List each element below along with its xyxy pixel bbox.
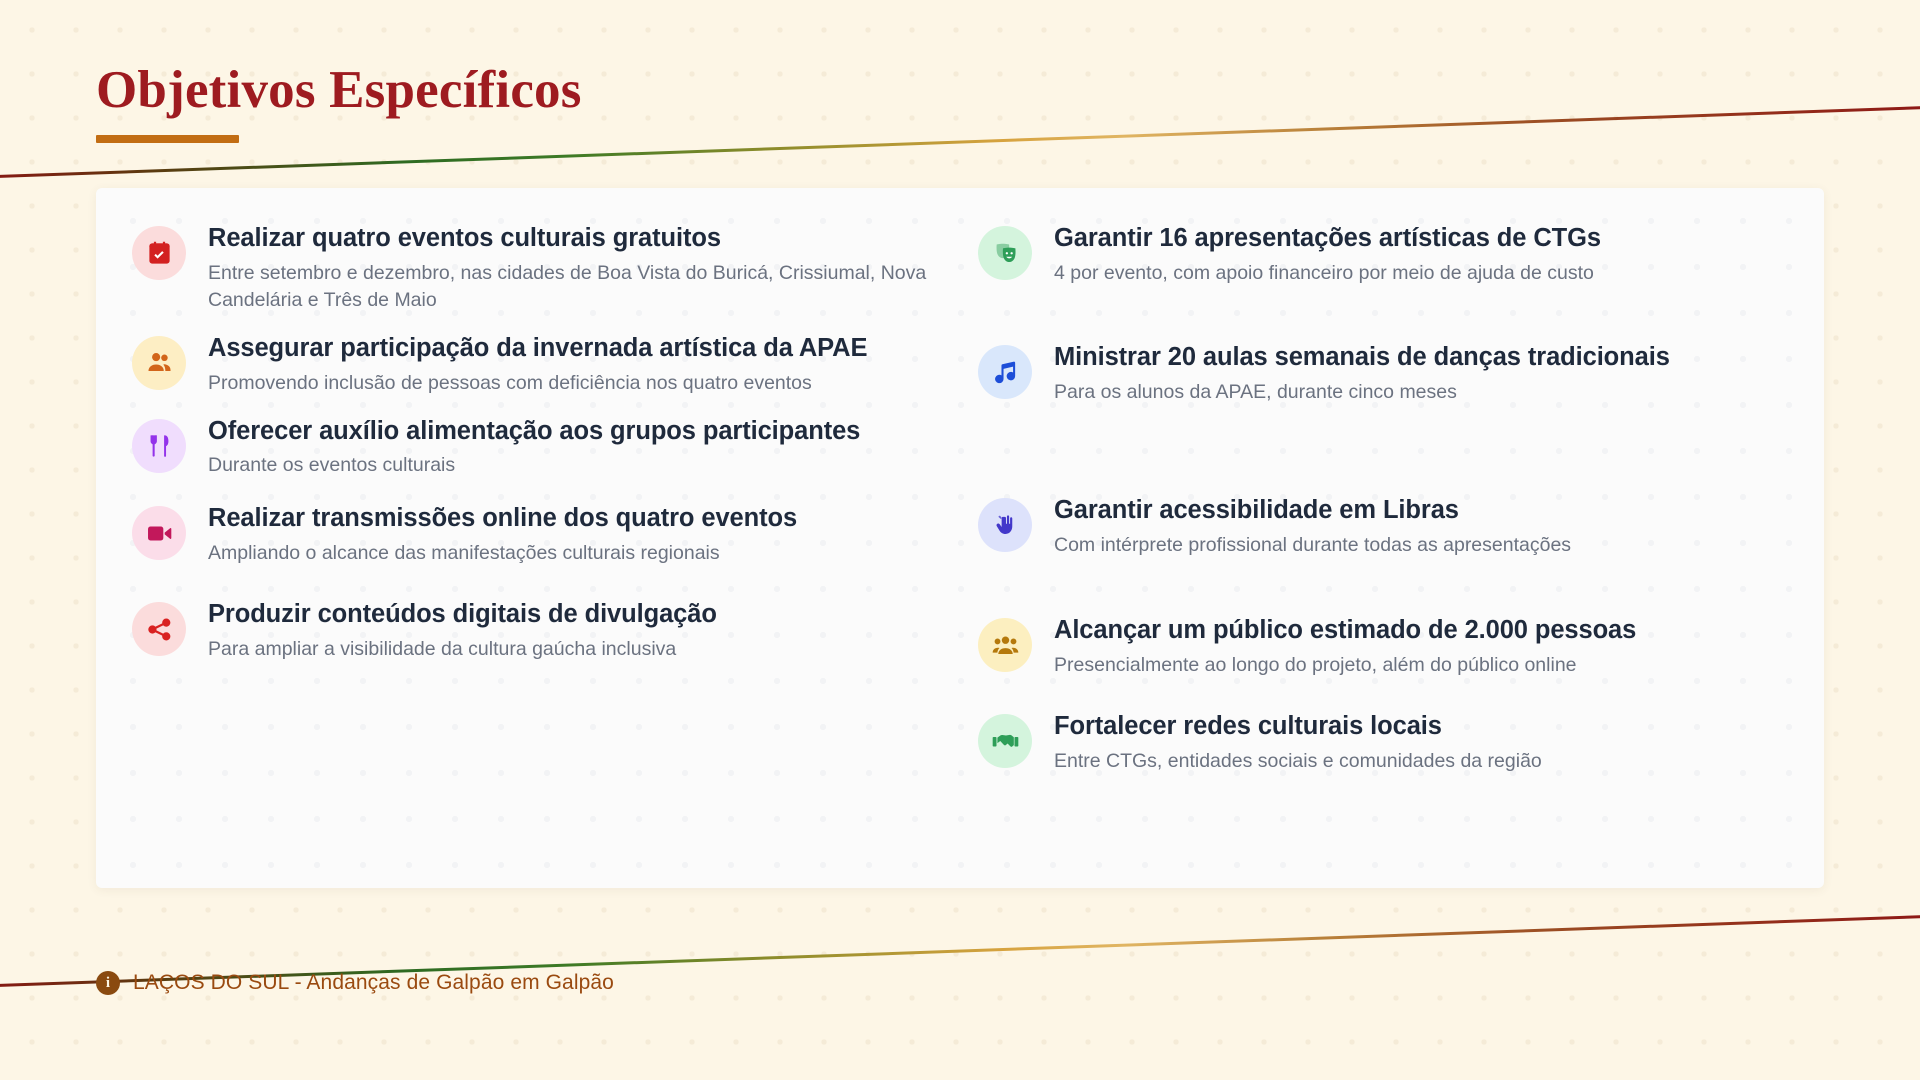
objectives-column-right: Garantir 16 apresentações artísticas de … [978, 222, 1788, 858]
objective-item: Realizar transmissões online dos quatro … [132, 502, 942, 567]
objective-item: Oferecer auxílio alimentação aos grupos … [132, 415, 942, 480]
objective-title: Ministrar 20 aulas semanais de danças tr… [1054, 341, 1788, 375]
objective-subtitle: Entre CTGs, entidades sociais e comunida… [1054, 748, 1788, 775]
objective-text: Garantir 16 apresentações artísticas de … [1054, 222, 1788, 287]
objective-text: Fortalecer redes culturais locaisEntre C… [1054, 710, 1788, 775]
objective-text: Produzir conteúdos digitais de divulgaçã… [208, 598, 942, 663]
objective-text: Realizar transmissões online dos quatro … [208, 502, 942, 567]
objective-subtitle: Para os alunos da APAE, durante cinco me… [1054, 379, 1788, 406]
objective-subtitle: Com intérprete profissional durante toda… [1054, 532, 1788, 559]
calendar-check-icon [132, 226, 186, 280]
objective-title: Garantir 16 apresentações artísticas de … [1054, 222, 1788, 256]
objective-title: Produzir conteúdos digitais de divulgaçã… [208, 598, 942, 632]
objective-subtitle: Para ampliar a visibilidade da cultura g… [208, 636, 942, 663]
objective-item: Garantir acessibilidade em LibrasCom int… [978, 494, 1788, 559]
objective-item: Alcançar um público estimado de 2.000 pe… [978, 614, 1788, 679]
objective-item: Produzir conteúdos digitais de divulgaçã… [132, 598, 942, 663]
objectives-card: Realizar quatro eventos culturais gratui… [96, 188, 1824, 888]
objective-subtitle: Durante os eventos culturais [208, 452, 942, 479]
title-block: Objetivos Específicos [96, 62, 582, 143]
objective-title: Garantir acessibilidade em Libras [1054, 494, 1788, 528]
info-icon: i [96, 971, 120, 995]
objective-item: Garantir 16 apresentações artísticas de … [978, 222, 1788, 287]
objective-text: Garantir acessibilidade em LibrasCom int… [1054, 494, 1788, 559]
objective-title: Realizar quatro eventos culturais gratui… [208, 222, 942, 256]
objective-item: Fortalecer redes culturais locaisEntre C… [978, 710, 1788, 775]
sign-language-icon [978, 498, 1032, 552]
objective-title: Realizar transmissões online dos quatro … [208, 502, 942, 536]
objective-text: Oferecer auxílio alimentação aos grupos … [208, 415, 942, 480]
objective-subtitle: Ampliando o alcance das manifestações cu… [208, 540, 942, 567]
objective-item: Ministrar 20 aulas semanais de danças tr… [978, 341, 1788, 406]
page-title: Objetivos Específicos [96, 62, 582, 118]
objective-subtitle: Presencialmente ao longo do projeto, alé… [1054, 652, 1788, 679]
share-icon [132, 602, 186, 656]
objective-title: Oferecer auxílio alimentação aos grupos … [208, 415, 942, 449]
handshake-icon [978, 714, 1032, 768]
cutlery-icon [132, 419, 186, 473]
objective-subtitle: 4 por evento, com apoio financeiro por m… [1054, 260, 1788, 287]
objectives-column-left: Realizar quatro eventos culturais gratui… [132, 222, 942, 858]
people-group-icon [978, 618, 1032, 672]
theater-masks-icon [978, 226, 1032, 280]
footer: i LAÇOS DO SUL - Andanças de Galpão em G… [96, 971, 614, 995]
objective-text: Assegurar participação da invernada artí… [208, 332, 942, 397]
objective-title: Fortalecer redes culturais locais [1054, 710, 1788, 744]
video-camera-icon [132, 506, 186, 560]
objective-item: Assegurar participação da invernada artí… [132, 332, 942, 397]
users-icon [132, 336, 186, 390]
footer-label: LAÇOS DO SUL - Andanças de Galpão em Gal… [133, 971, 614, 995]
objective-text: Realizar quatro eventos culturais gratui… [208, 222, 942, 314]
title-underline-rule [96, 135, 239, 143]
music-note-icon [978, 345, 1032, 399]
objective-title: Assegurar participação da invernada artí… [208, 332, 942, 366]
objective-item: Realizar quatro eventos culturais gratui… [132, 222, 942, 314]
objective-subtitle: Entre setembro e dezembro, nas cidades d… [208, 260, 942, 314]
objective-title: Alcançar um público estimado de 2.000 pe… [1054, 614, 1788, 648]
objective-text: Ministrar 20 aulas semanais de danças tr… [1054, 341, 1788, 406]
objective-text: Alcançar um público estimado de 2.000 pe… [1054, 614, 1788, 679]
objective-subtitle: Promovendo inclusão de pessoas com defic… [208, 370, 942, 397]
